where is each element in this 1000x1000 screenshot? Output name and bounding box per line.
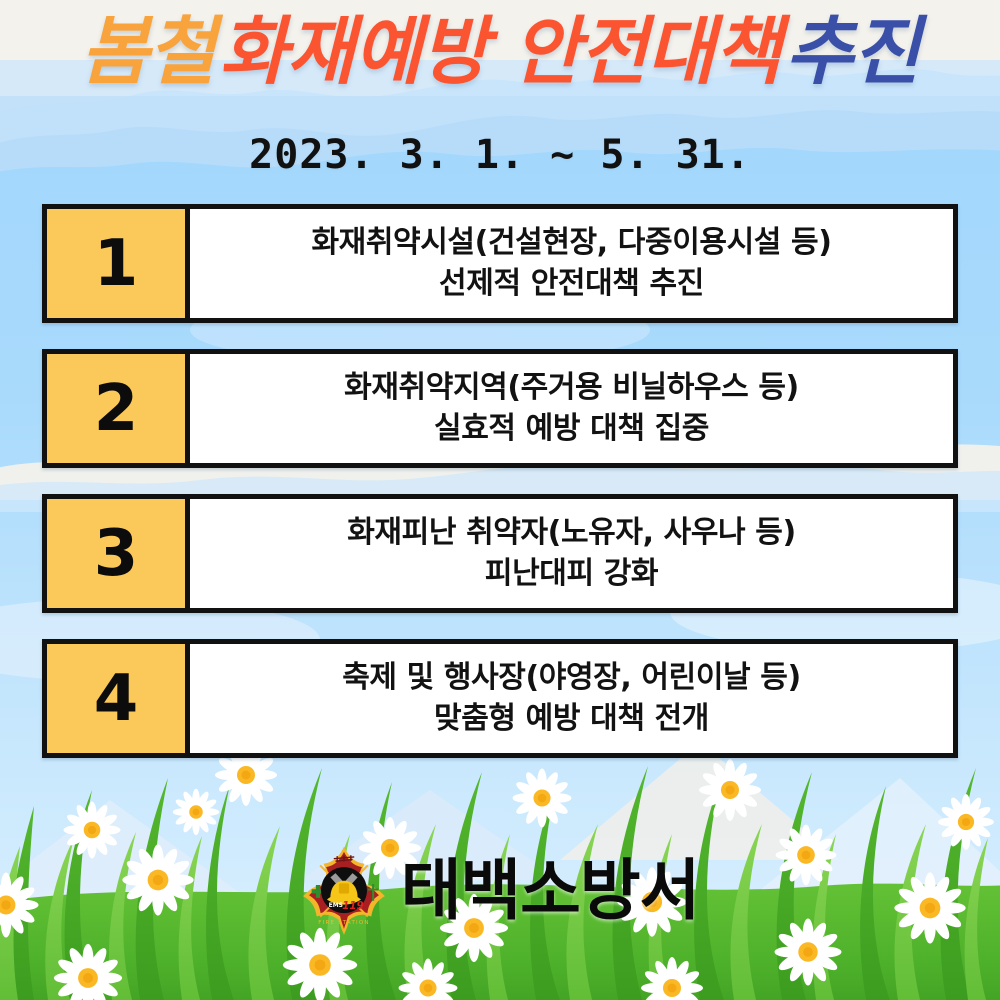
measure-row-2: 2 화재취약지역(주거용 비닐하우스 등) 실효적 예방 대책 집중 — [42, 349, 958, 468]
poster-title: 봄철 화재예방 안전대책 추진 — [0, 14, 1000, 92]
measure-number-1: 1 — [47, 209, 190, 318]
measure-row-3: 3 화재피난 취약자(노유자, 사우나 등) 피난대피 강화 — [42, 494, 958, 613]
measure-line-1a: 화재취약시설(건설현장, 다중이용시설 등) — [311, 223, 831, 263]
measure-number-4: 4 — [47, 644, 190, 753]
emblem-number: 119 — [342, 901, 363, 912]
measure-line-4a: 축제 및 행사장(야영장, 어린이날 등) — [342, 658, 801, 698]
footer-branding: EMS 119 FIRE STATION 태백소방서 — [0, 845, 1000, 937]
measure-row-1: 1 화재취약시설(건설현장, 다중이용시설 등) 선제적 안전대책 추진 — [42, 204, 958, 323]
measure-row-4: 4 축제 및 행사장(야영장, 어린이날 등) 맞춤형 예방 대책 전개 — [42, 639, 958, 758]
measure-text-3: 화재피난 취약자(노유자, 사우나 등) 피난대피 강화 — [190, 499, 953, 608]
organisation-name: 태백소방서 — [401, 858, 700, 924]
title-part-season: 봄철 — [81, 14, 215, 92]
measure-line-4b: 맞춤형 예방 대책 전개 — [434, 699, 709, 739]
svg-text:EMS: EMS — [328, 902, 342, 909]
measure-line-2a: 화재취약지역(주거용 비닐하우스 등) — [344, 368, 799, 408]
title-part-subject: 화재예방 안전대책 — [219, 14, 780, 92]
date-range: 2023. 3. 1. ~ 5. 31. — [0, 132, 1000, 178]
measure-text-4: 축제 및 행사장(야영장, 어린이날 등) 맞춤형 예방 대책 전개 — [190, 644, 953, 753]
title-part-action: 추진 — [785, 14, 919, 92]
measures-list: 1 화재취약시설(건설현장, 다중이용시설 등) 선제적 안전대책 추진 2 화… — [42, 204, 958, 784]
measure-line-2b: 실효적 예방 대책 집중 — [434, 409, 709, 449]
measure-line-1b: 선제적 안전대책 추진 — [439, 264, 704, 304]
measure-line-3a: 화재피난 취약자(노유자, 사우나 등) — [347, 513, 796, 553]
emblem-caption: FIRE STATION — [318, 920, 369, 926]
measure-text-1: 화재취약시설(건설현장, 다중이용시설 등) 선제적 안전대책 추진 — [190, 209, 953, 318]
measure-line-3b: 피난대피 강화 — [485, 554, 658, 594]
measure-number-2: 2 — [47, 354, 190, 463]
measure-text-2: 화재취약지역(주거용 비닐하우스 등) 실효적 예방 대책 집중 — [190, 354, 953, 463]
fire-station-emblem-icon: EMS 119 FIRE STATION — [301, 845, 387, 937]
poster-canvas: 봄철 화재예방 안전대책 추진 2023. 3. 1. ~ 5. 31. 1 화… — [0, 0, 1000, 1000]
measure-number-3: 3 — [47, 499, 190, 608]
